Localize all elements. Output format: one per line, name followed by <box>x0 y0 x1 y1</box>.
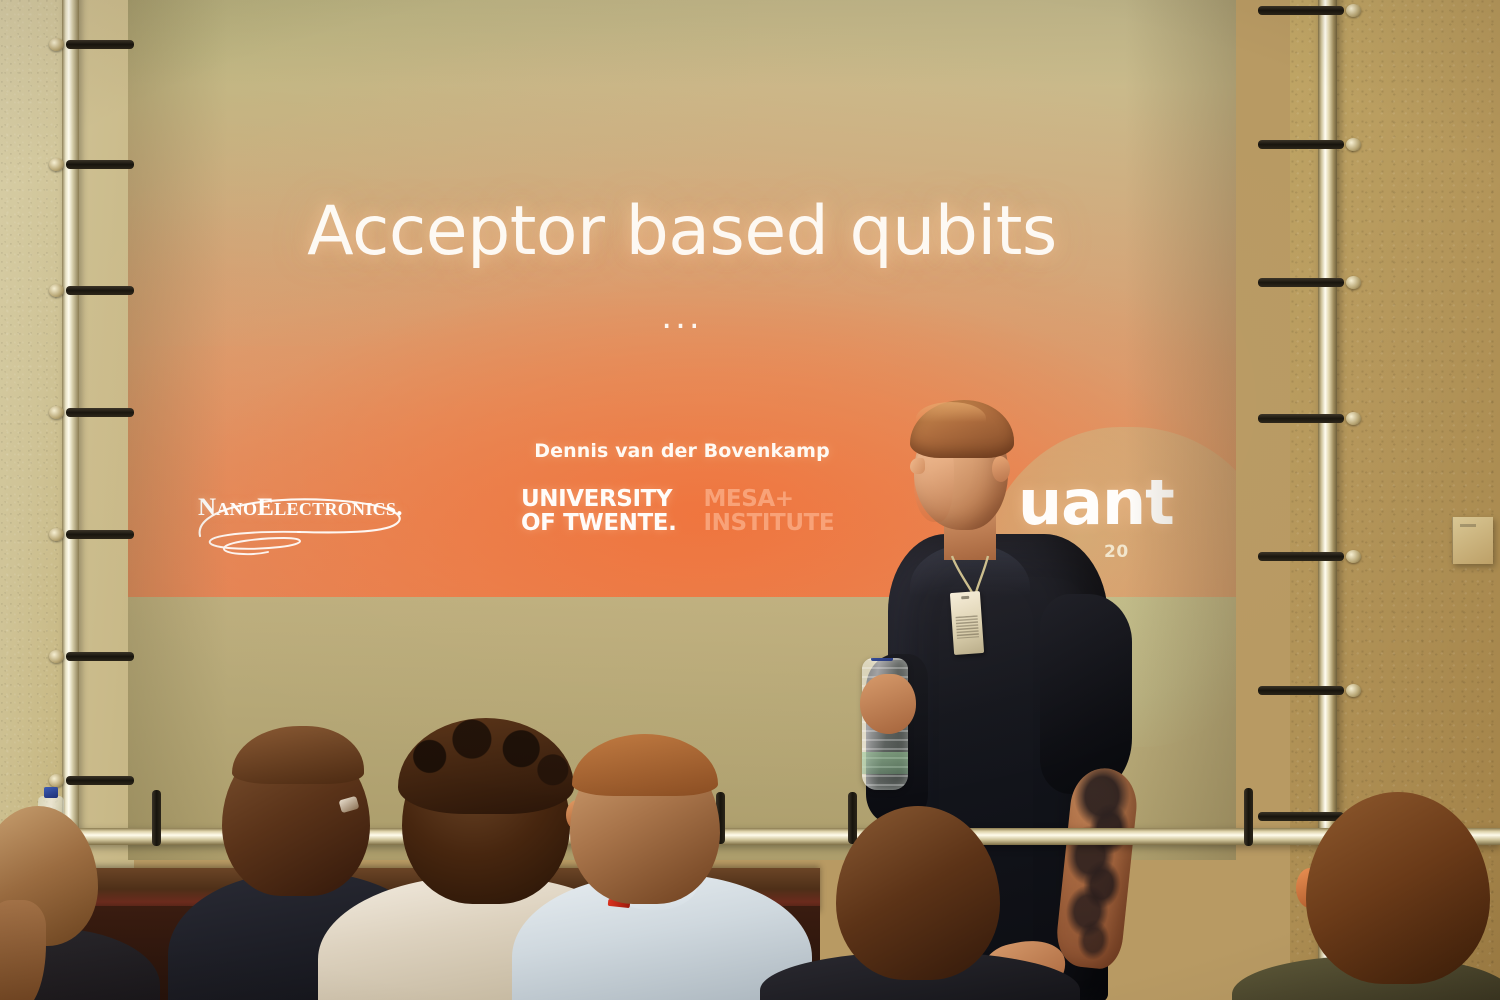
nano-electronics-logo: NanoElectronics. <box>188 488 418 558</box>
mesa-line-1: MESA+ <box>703 487 834 511</box>
slide-subtitle-dots: ... <box>128 300 1236 334</box>
mesa-plus-institute-logo-text: MESA+ INSTITUTE <box>703 487 834 536</box>
university-of-twente-logo-text: UNIVERSITY OF TWENTE. <box>521 487 676 536</box>
rail-clamp <box>1244 788 1253 846</box>
slide-title: Acceptor based qubits <box>128 198 1236 266</box>
pole-clamp <box>1258 552 1344 561</box>
ut-line-1: UNIVERSITY <box>521 487 676 511</box>
bottle-label <box>862 752 908 774</box>
presenter-nose <box>910 458 925 474</box>
pole-clamp <box>66 160 134 169</box>
pole-clamp <box>1258 140 1344 149</box>
mesa-line-2: INSTITUTE <box>703 511 834 535</box>
pole-clamp <box>1258 414 1344 423</box>
presentation-photo-scene: Acceptor based qubits ... Dennis van der… <box>0 0 1500 1000</box>
pole-clamp <box>1258 686 1344 695</box>
ut-line-2: OF TWENTE. <box>521 511 676 535</box>
presenter-ear <box>992 456 1010 482</box>
pole-clamp <box>1258 812 1344 821</box>
pole-clamp <box>66 408 134 417</box>
pole-clamp <box>1258 6 1344 15</box>
presenter-sleeve <box>1040 594 1132 794</box>
projector-beam-cool-tint <box>128 0 748 346</box>
pole-clamp <box>66 286 134 295</box>
rail-clamp <box>152 790 161 846</box>
rail-clamp <box>848 792 857 844</box>
presenter-hand-holding-bottle <box>860 674 916 734</box>
light-switch-plate[interactable] <box>1452 517 1493 564</box>
pole-clamp <box>66 40 134 49</box>
pole-clamp <box>66 652 134 661</box>
bottle-cap <box>871 658 893 661</box>
nano-electronics-swoosh-icon <box>188 488 418 558</box>
pole-clamp <box>1258 278 1344 287</box>
university-mesa-logo-lockup: UNIVERSITY OF TWENTE. MESA+ INSTITUTE <box>521 487 811 547</box>
conference-badge <box>950 591 984 655</box>
pole-clamp <box>66 776 134 785</box>
audience-member-ponytail <box>0 900 46 1000</box>
pole-clamp <box>66 530 134 539</box>
presenter-hair <box>910 400 1014 458</box>
